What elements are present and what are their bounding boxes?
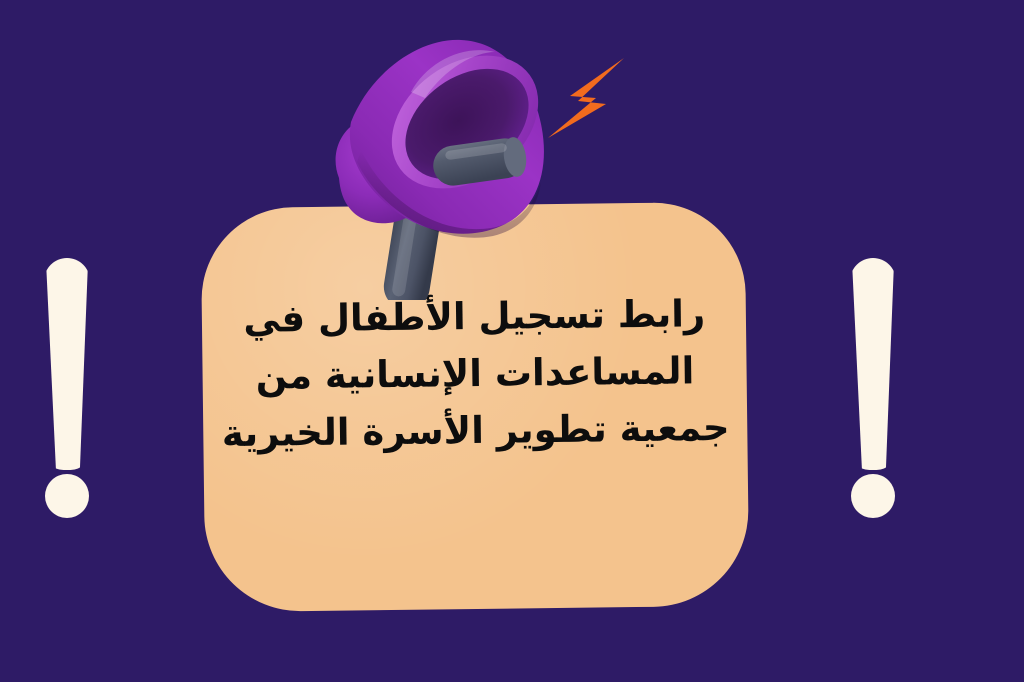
announcement-text: رابط تسجيل الأطفال في المساعدات الإنساني… xyxy=(202,285,748,463)
lightning-bolt-icon xyxy=(544,52,628,144)
exclamation-dot-icon xyxy=(45,474,89,518)
announcement-line-3: جمعية تطوير الأسرة الخيرية xyxy=(203,399,748,463)
exclamation-stroke-icon xyxy=(44,258,90,470)
poster-canvas: رابط تسجيل الأطفال في المساعدات الإنساني… xyxy=(0,0,1024,682)
announcement-line-2: المساعدات الإنسانية من xyxy=(203,342,748,406)
exclamation-stroke-icon xyxy=(850,258,896,470)
megaphone-icon xyxy=(315,30,575,300)
exclamation-dot-icon xyxy=(851,474,895,518)
